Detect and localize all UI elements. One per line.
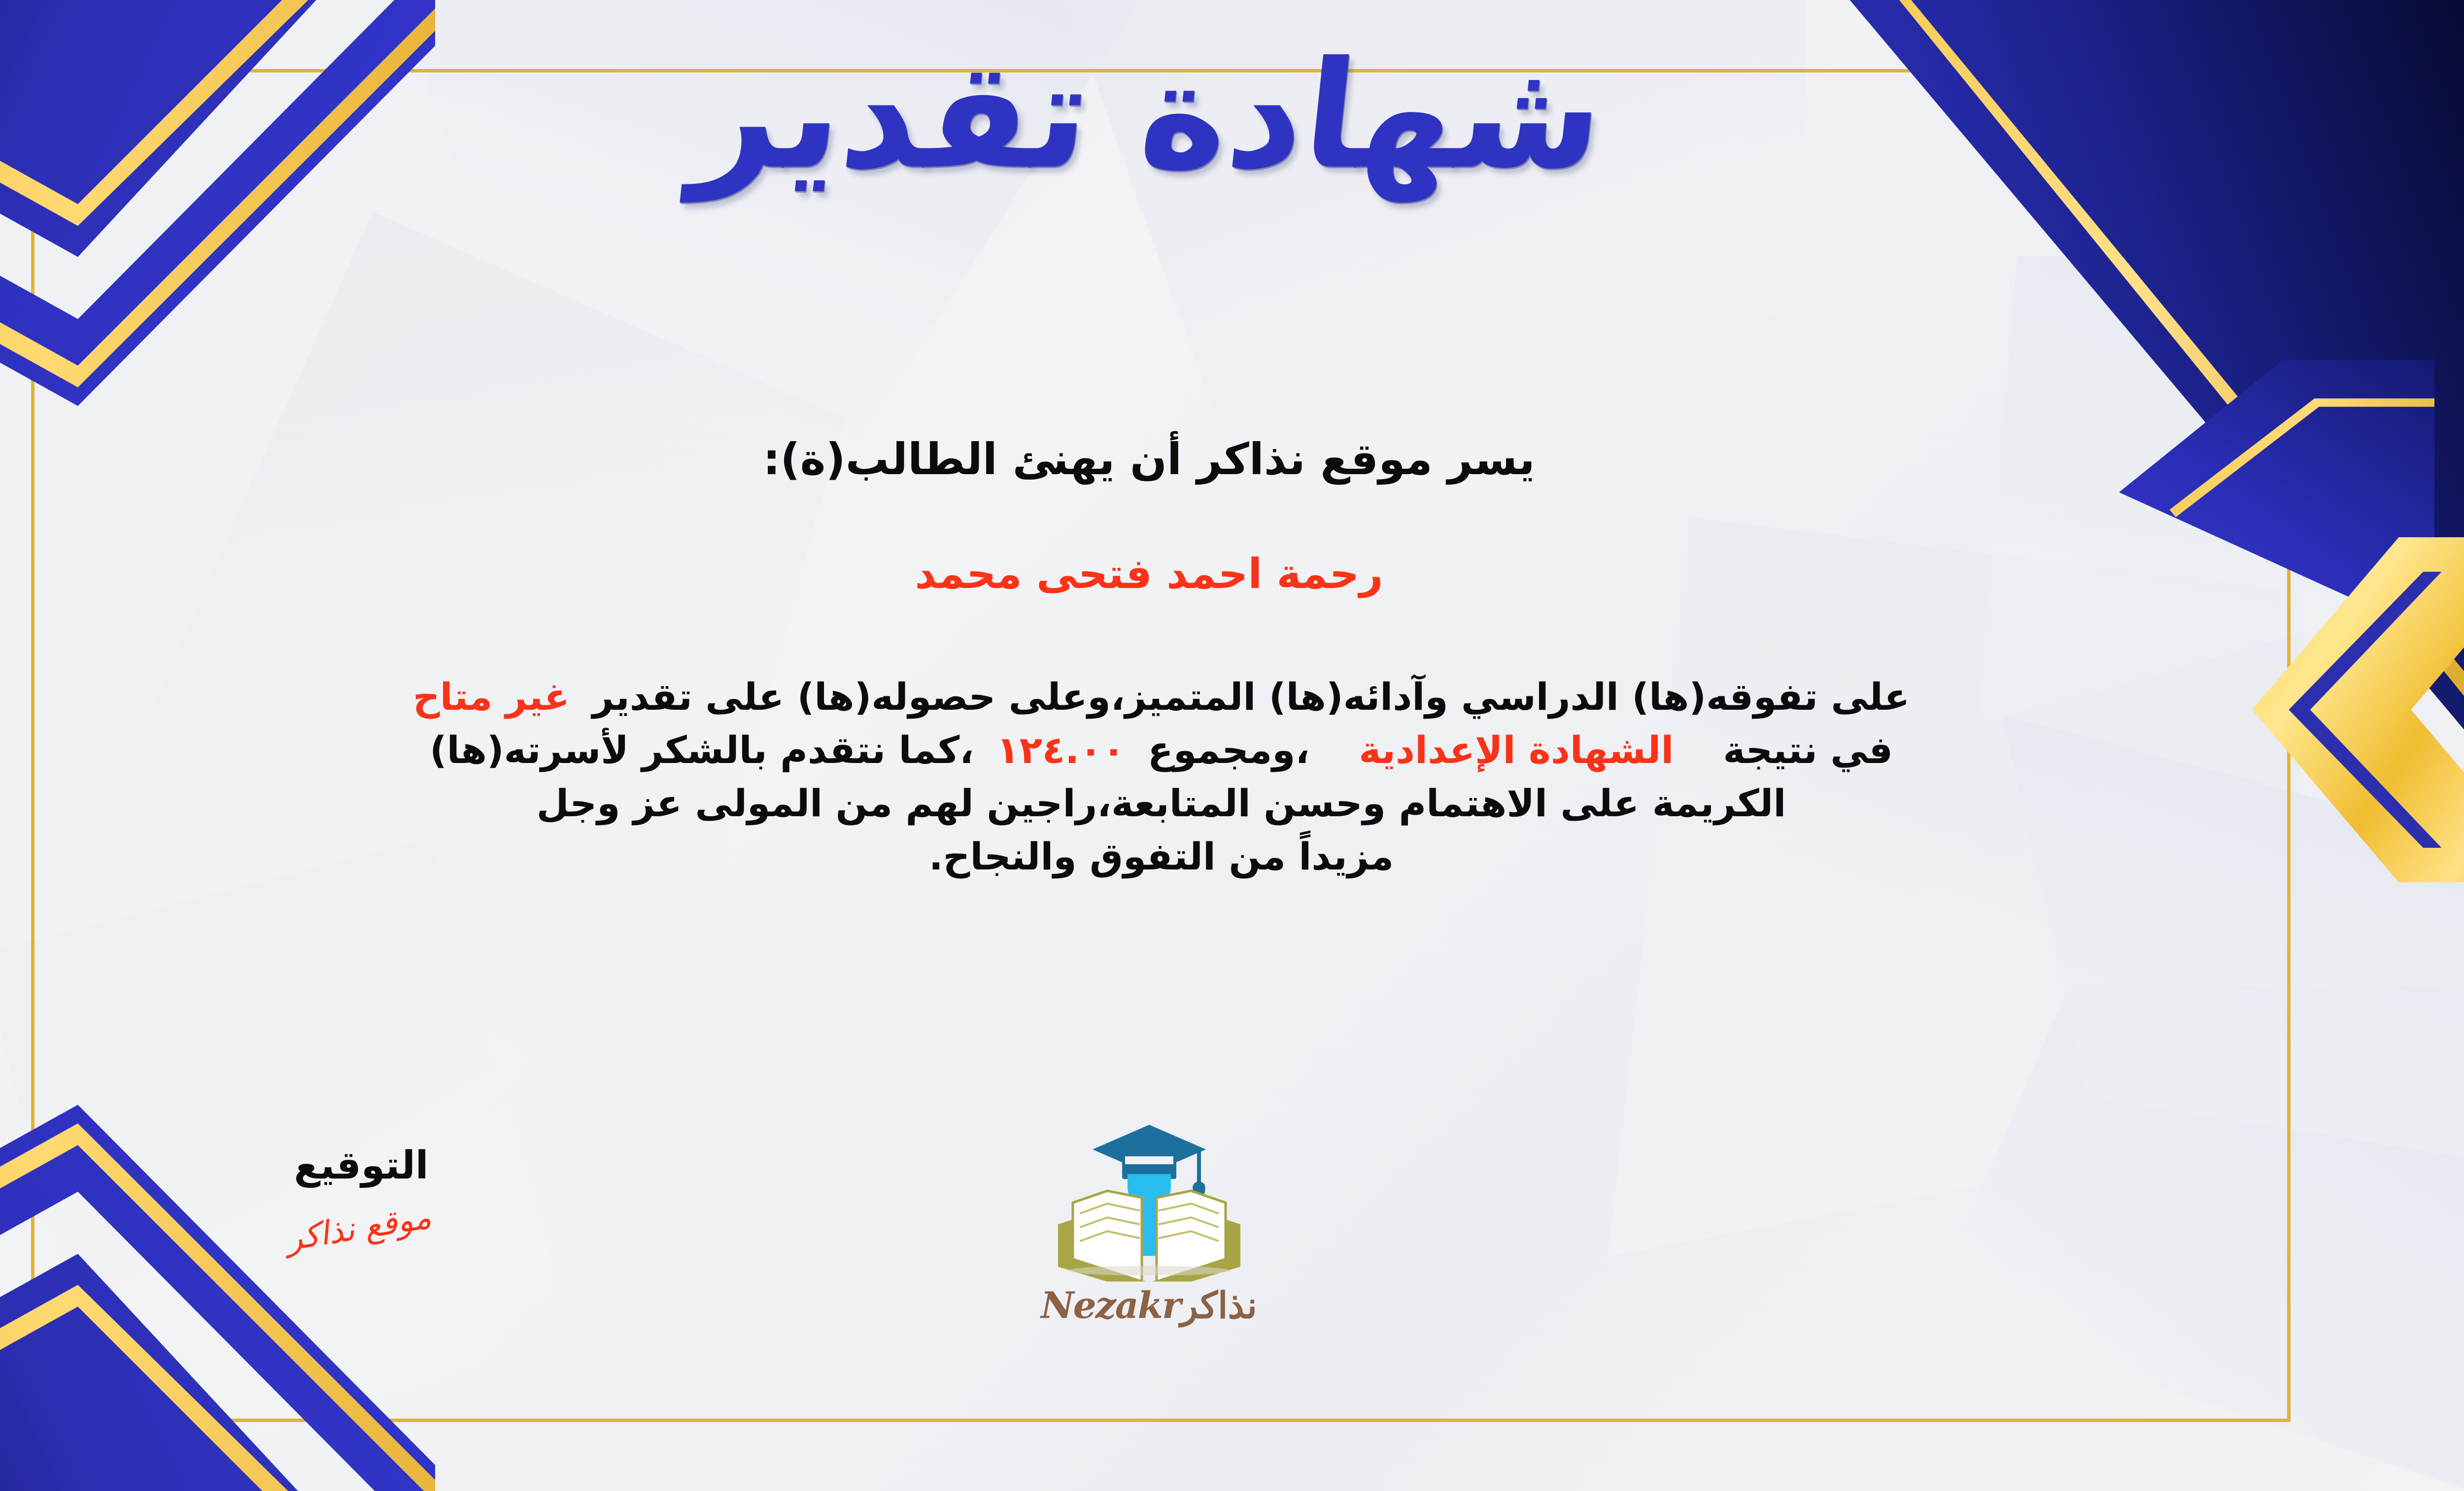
graduate-book-logo-icon	[962, 1119, 1336, 1282]
body-line-4: مزيداً من التفوق والنجاح.	[46, 830, 2277, 883]
grade-value: غير متاح	[413, 675, 570, 719]
body-line-1-text: على تفوقه(ها) الدراسي وآدائه(ها) المتميز…	[592, 675, 1910, 719]
greeting-line: يسر موقع نذاكر أن يهنئ الطالب(ة):	[0, 434, 2464, 485]
body-line-1: على تفوقه(ها) الدراسي وآدائه(ها) المتميز…	[46, 670, 2277, 724]
student-name: رحمة احمد فتحى محمد	[0, 550, 2464, 598]
body-line-2-prefix: في نتيجة	[1723, 728, 1893, 772]
signature-area: التوقيع موقع نذاكر	[208, 1144, 514, 1247]
site-logo: نذاكرNezakr	[962, 1119, 1336, 1327]
body-line-2-middle: ،ومجموع	[1148, 728, 1309, 772]
body-line-3: الكريمة على الاهتمام وحسن المتابعة،راجين…	[46, 777, 2277, 830]
logo-latin-text: Nezakr	[1041, 1284, 1180, 1327]
certificate-content: شهادة تقدير يسر موقع نذاكر أن يهنئ الطال…	[0, 0, 2464, 1491]
logo-arabic-text: نذاكر	[1180, 1284, 1257, 1327]
signature-mark: موقع نذاكر	[287, 1197, 435, 1258]
body-line-2-suffix: ،كما نتقدم بالشكر لأسرته(ها)	[430, 728, 974, 772]
signature-label: التوقيع	[208, 1144, 514, 1188]
certificate-body: على تفوقه(ها) الدراسي وآدائه(ها) المتميز…	[46, 670, 2277, 883]
certificate-page: شهادة تقدير يسر موقع نذاكر أن يهنئ الطال…	[0, 0, 2464, 1491]
logo-wordmark: نذاكرNezakr	[962, 1284, 1336, 1327]
body-line-2: في نتيجةالشهادة الإعدادية،ومجموع١٢٤.٠٠،ك…	[46, 724, 2277, 777]
exam-name-value: الشهادة الإعدادية	[1359, 728, 1674, 772]
total-score-value: ١٢٤.٠٠	[996, 728, 1125, 772]
certificate-title: شهادة تقدير	[0, 42, 2464, 190]
